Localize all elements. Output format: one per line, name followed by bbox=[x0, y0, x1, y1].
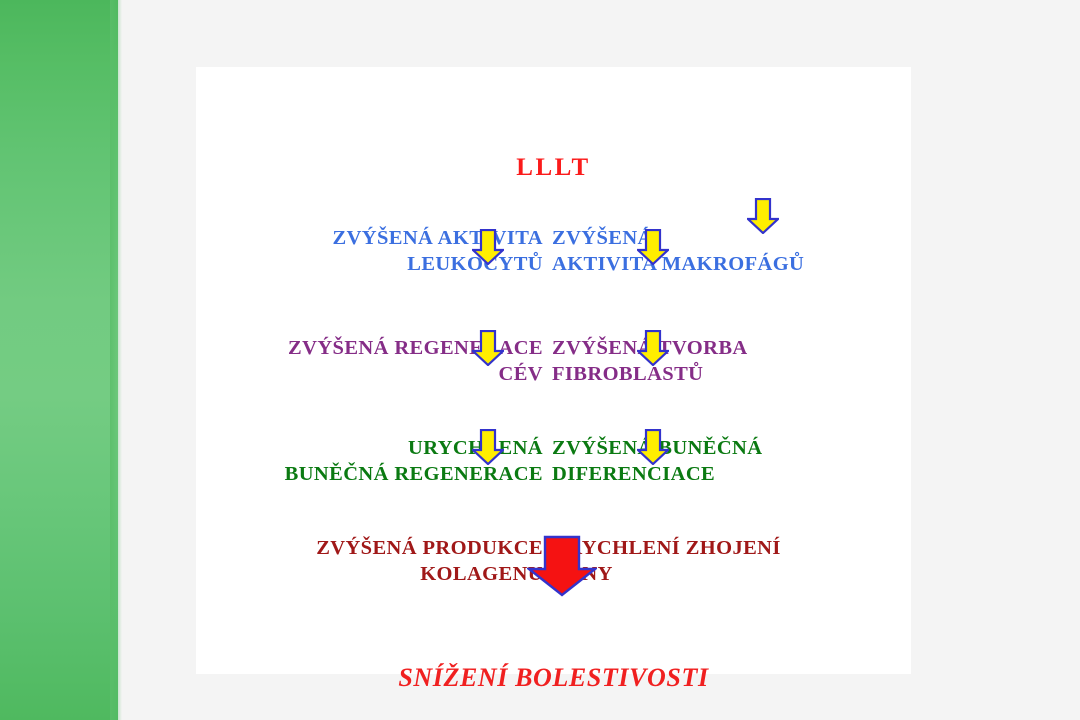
diagram-title: LLLT bbox=[196, 154, 911, 182]
arrow-row1-right-to-row2-right-icon bbox=[637, 229, 669, 265]
final-outcome-text: SNÍŽENÍ BOLESTIVOSTI bbox=[196, 663, 911, 693]
row-4-right-node: URYCHLENÍ ZHOJENÍ RÁNY bbox=[543, 535, 911, 587]
arrow-row2-right-to-row3-right-icon bbox=[637, 330, 669, 366]
slide-canvas: LLLT ZVÝŠENÁ AKTIVITA LEUKOCYTŮ ZVÝŠENÁ … bbox=[0, 0, 1080, 720]
diagram-row-1: ZVÝŠENÁ AKTIVITA LEUKOCYTŮ ZVÝŠENÁ AKTIV… bbox=[196, 225, 911, 277]
diagram-row-2: ZVÝŠENÁ REGENERACE CÉV ZVÝŠENÁ TVORBA FI… bbox=[196, 335, 911, 387]
diagram-row-3: URYCHLENÁ BUNĚČNÁ REGENERACE ZVÝŠENÁ BUN… bbox=[196, 435, 911, 487]
green-gradient-band bbox=[0, 0, 118, 720]
row-1-right-node: ZVÝŠENÁ AKTIVITA MAKROFÁGŮ bbox=[543, 225, 911, 277]
arrow-row2-left-to-row3-left-icon bbox=[472, 330, 504, 366]
arrow-row4-to-final-icon bbox=[527, 535, 597, 597]
arrow-row3-left-to-row4-left-icon bbox=[472, 429, 504, 465]
row-2-right-node: ZVÝŠENÁ TVORBA FIBROBLASTŮ bbox=[543, 335, 911, 387]
row-3-right-node: ZVÝŠENÁ BUNĚČNÁ DIFERENCIACE bbox=[543, 435, 911, 487]
row-4-left-node: ZVÝŠENÁ PRODUKCE KOLAGENU bbox=[196, 535, 543, 587]
arrow-row1-left-to-row2-left-icon bbox=[472, 229, 504, 265]
arrow-row3-right-to-row4-right-icon bbox=[637, 429, 669, 465]
green-gradient-band-fade bbox=[110, 0, 122, 720]
diagram-card: LLLT ZVÝŠENÁ AKTIVITA LEUKOCYTŮ ZVÝŠENÁ … bbox=[196, 67, 911, 674]
